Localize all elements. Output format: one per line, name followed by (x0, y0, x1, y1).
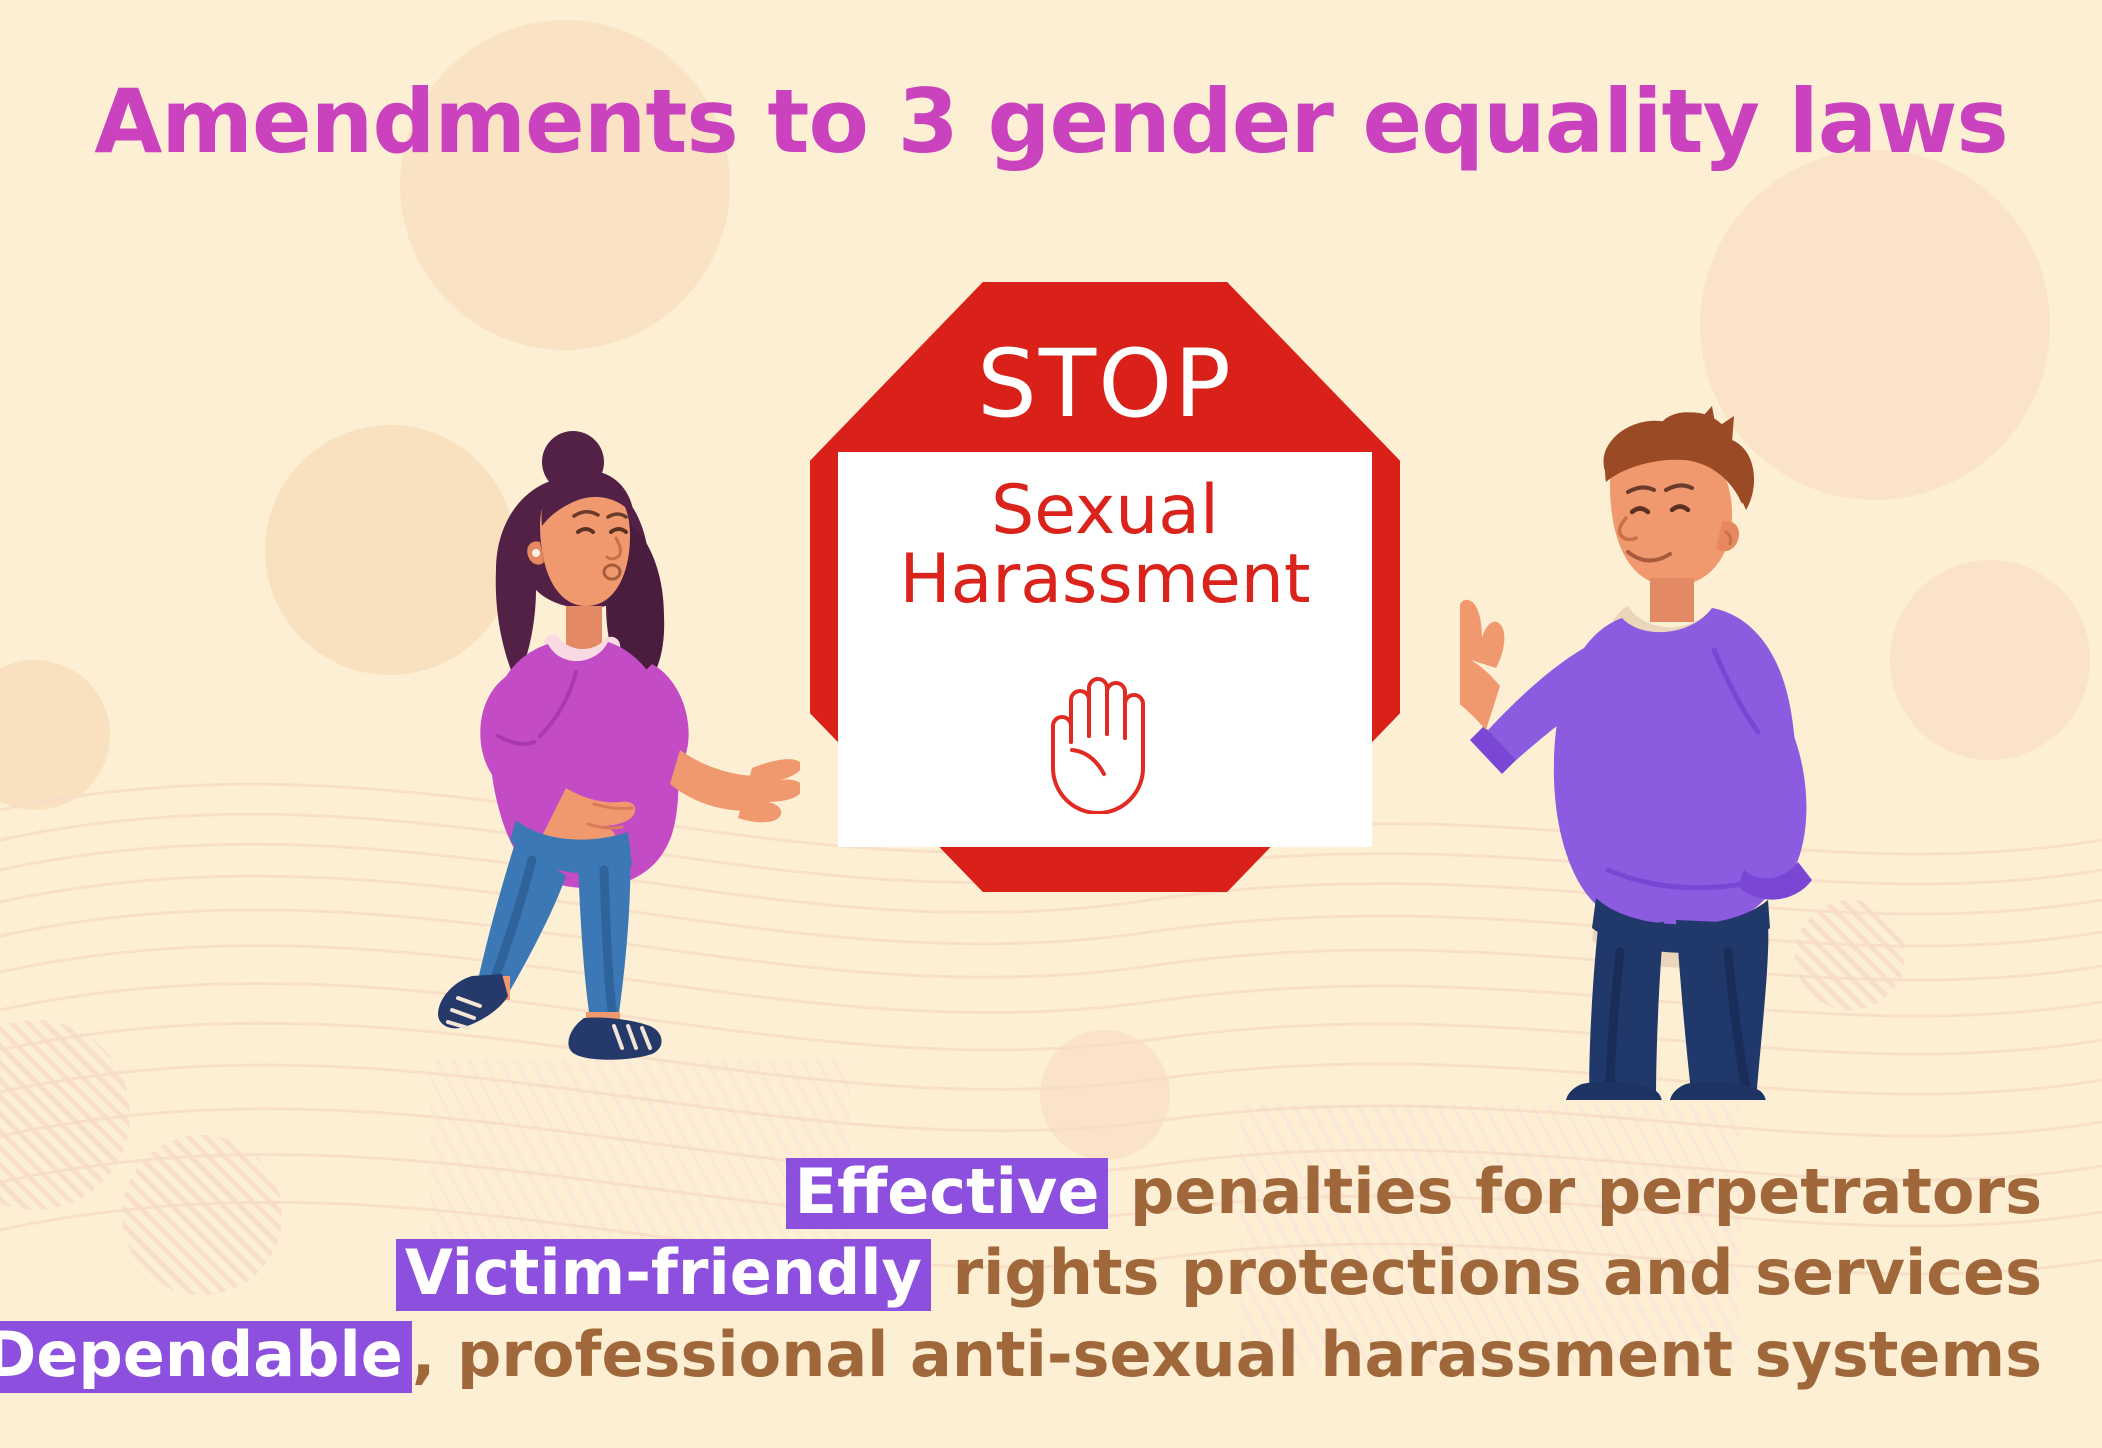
sign-subject-line-2: Harassment (838, 545, 1372, 614)
bullet-keyword-2: Victim-friendly (396, 1239, 931, 1311)
sign-subject-line-1: Sexual (838, 476, 1372, 545)
bullet-list: Effective penalties for perpetrators Vic… (0, 1151, 2042, 1396)
bullet-keyword-1: Effective (786, 1158, 1109, 1230)
bullet-text-2: rights protections and services (931, 1236, 2042, 1309)
bullet-text-3: , professional anti-sexual harassment sy… (412, 1318, 2042, 1391)
stop-sign: STOP Sexual Harassment (810, 282, 1400, 892)
bullet-row-1: Effective penalties for perpetrators (0, 1151, 2042, 1233)
woman-character (380, 420, 800, 1064)
infographic-canvas: Amendments to 3 gender equality laws (0, 0, 2102, 1448)
woman-illustration (380, 420, 800, 1060)
bullet-row-3: Dependable, professional anti-sexual har… (0, 1314, 2042, 1396)
bullet-text-1: penalties for perpetrators (1108, 1155, 2042, 1228)
sign-inner-panel: Sexual Harassment (838, 452, 1372, 847)
bullet-row-2: Victim-friendly rights protections and s… (0, 1232, 2042, 1314)
bullet-keyword-3: Dependable (0, 1321, 412, 1393)
stop-hand-icon (1029, 664, 1181, 814)
page-title: Amendments to 3 gender equality laws (0, 78, 2102, 166)
sign-subject-text: Sexual Harassment (838, 476, 1372, 615)
man-illustration (1460, 400, 1860, 1100)
stop-label: STOP (810, 330, 1400, 439)
man-character (1460, 400, 1860, 1104)
